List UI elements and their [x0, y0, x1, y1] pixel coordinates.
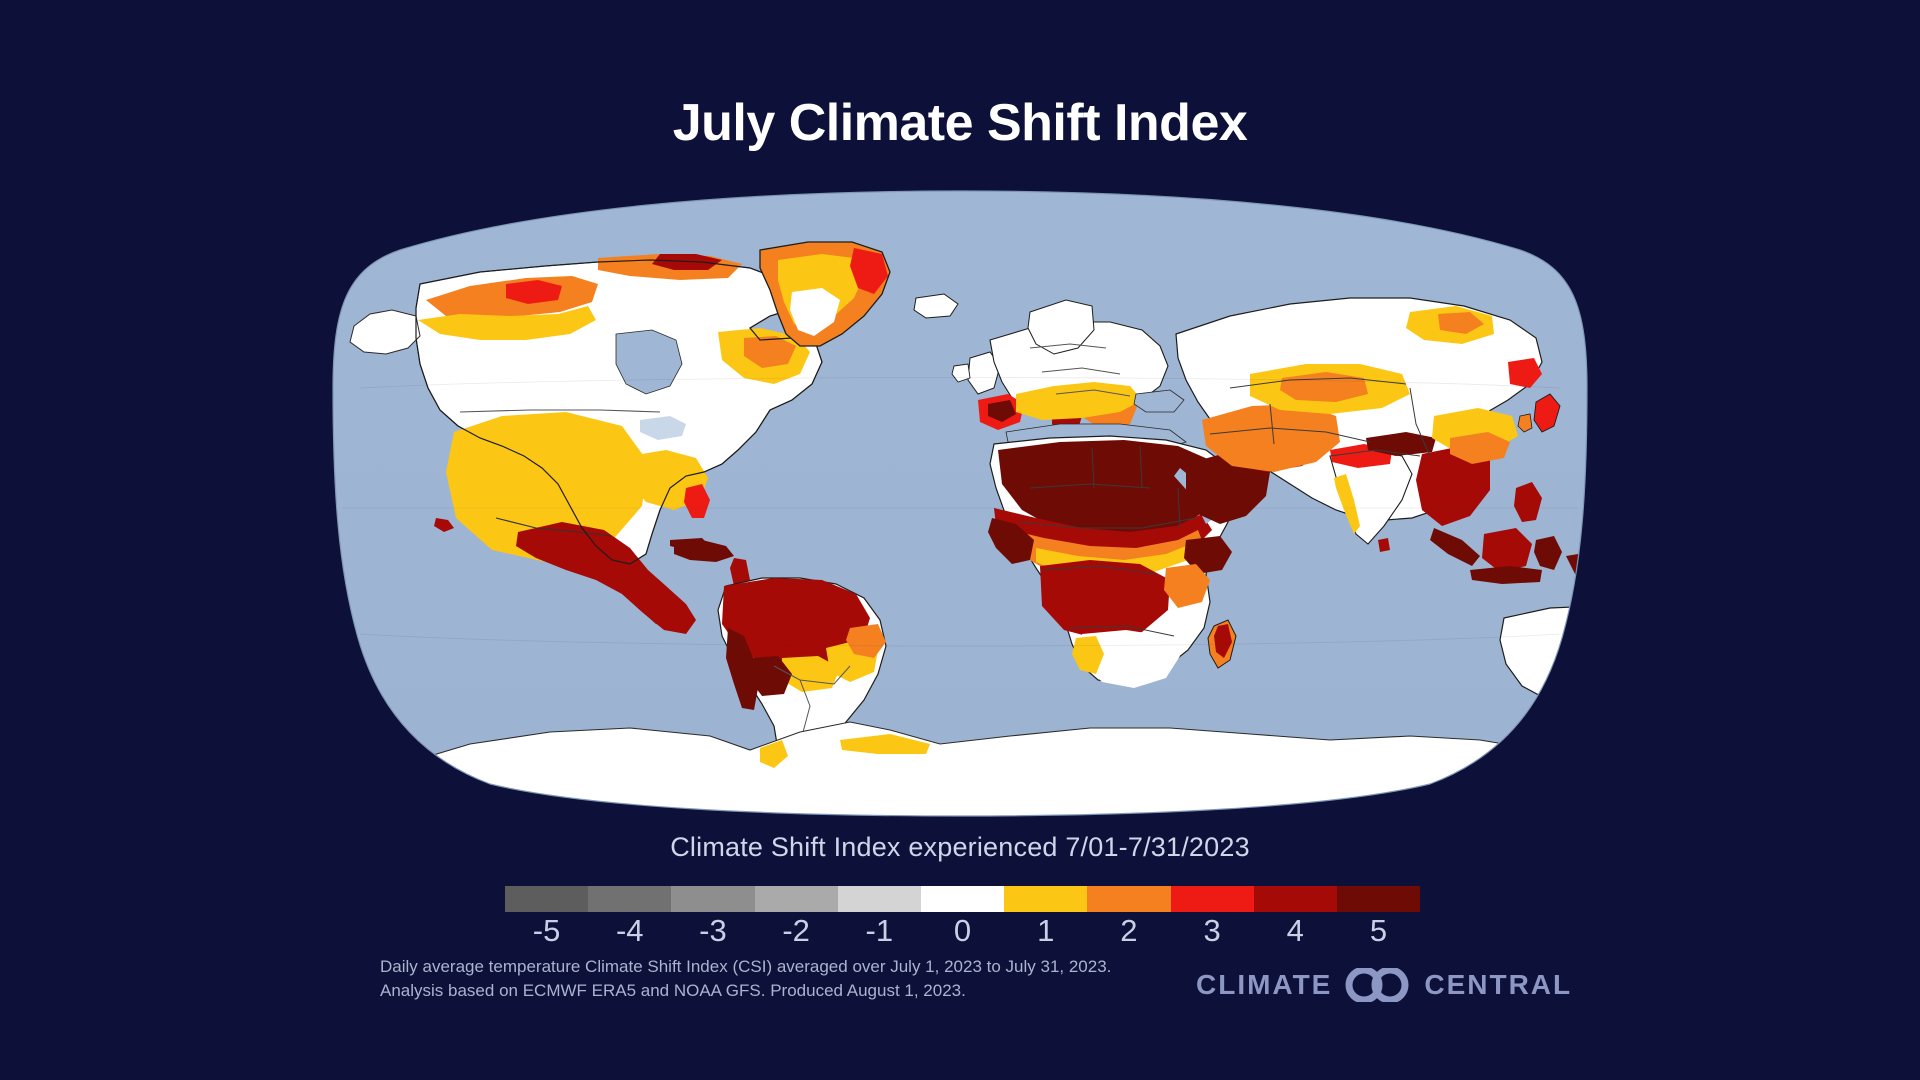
legend-title: Climate Shift Index experienced 7/01-7/3… — [0, 832, 1920, 863]
colorbar-segment-2 — [1087, 886, 1170, 912]
colorbar-segment-4 — [1254, 886, 1337, 912]
csi-band-australia-tip-orange — [1588, 600, 1590, 620]
footer-caption: Daily average temperature Climate Shift … — [380, 955, 1111, 1003]
colorbar-segment-0 — [921, 886, 1004, 912]
climate-central-logo: CLIMATE CENTRAL — [1196, 968, 1572, 1002]
colorbar-segment-minus4 — [588, 886, 671, 912]
colorbar-tick-minus1: -1 — [838, 914, 921, 948]
colorbar-tick-3: 3 — [1171, 914, 1254, 948]
csi-band-new-guinea-yellow — [1584, 558, 1590, 574]
logo-word-central: CENTRAL — [1424, 969, 1572, 1001]
colorbar-segment-minus1 — [838, 886, 921, 912]
colorbar-segment-3 — [1171, 886, 1254, 912]
colorbar-tick-minus4: -4 — [588, 914, 671, 948]
colorbar-segment-minus2 — [755, 886, 838, 912]
colorbar-tick-2: 2 — [1087, 914, 1170, 948]
infinity-rings-icon — [1345, 968, 1411, 1002]
page-title: July Climate Shift Index — [0, 96, 1920, 151]
colorbar-segment-minus5 — [505, 886, 588, 912]
world-map — [330, 188, 1590, 818]
colorbar-tick-minus5: -5 — [505, 914, 588, 948]
logo-word-climate: CLIMATE — [1196, 969, 1332, 1001]
colorbar-tick-minus3: -3 — [671, 914, 754, 948]
world-map-svg — [330, 188, 1590, 818]
colorbar-segment-minus3 — [671, 886, 754, 912]
colorbar: -5 -4 -3 -2 -1 0 1 2 3 4 5 — [505, 886, 1420, 946]
colorbar-tick-0: 0 — [921, 914, 1004, 948]
colorbar-tick-5: 5 — [1337, 914, 1420, 948]
colorbar-segment-5 — [1337, 886, 1420, 912]
colorbar-segment-1 — [1004, 886, 1087, 912]
island-sri-lanka — [1378, 538, 1390, 552]
climate-shift-index-infographic: July Climate Shift Index — [0, 0, 1920, 1080]
colorbar-tick-4: 4 — [1254, 914, 1337, 948]
colorbar-tick-1: 1 — [1004, 914, 1087, 948]
caption-line-1: Daily average temperature Climate Shift … — [380, 955, 1111, 979]
caption-line-2: Analysis based on ECMWF ERA5 and NOAA GF… — [380, 979, 1111, 1003]
colorbar-ticks: -5 -4 -3 -2 -1 0 1 2 3 4 5 — [505, 914, 1420, 948]
colorbar-gradient — [505, 886, 1420, 912]
colorbar-tick-minus2: -2 — [755, 914, 838, 948]
